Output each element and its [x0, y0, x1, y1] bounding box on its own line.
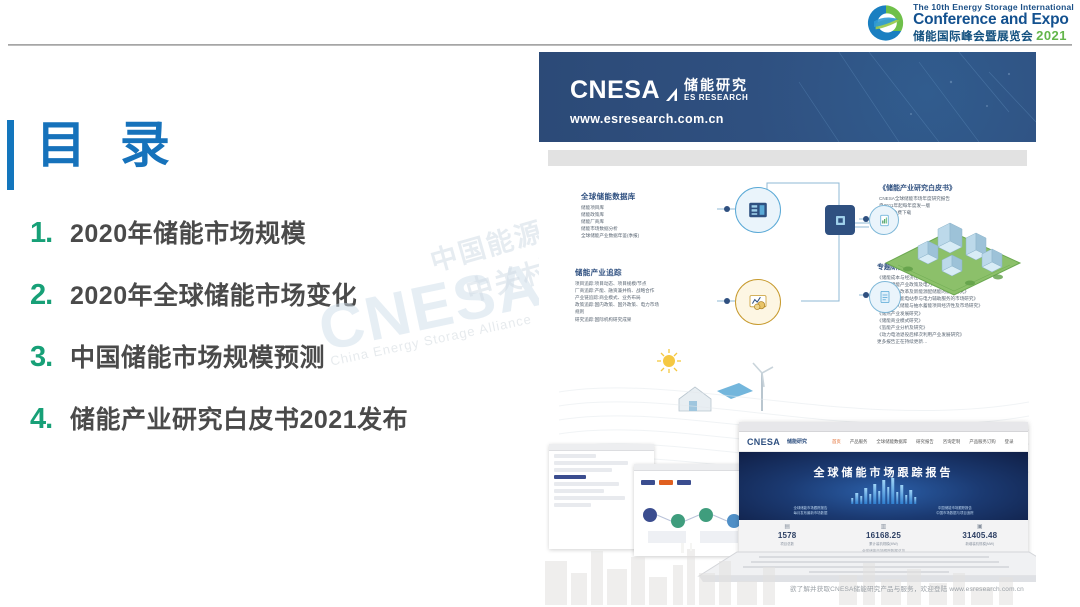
- clipboard-icon: ▤: [739, 524, 835, 530]
- chip-node-icon: [825, 205, 855, 235]
- toc-item-number: 1.: [30, 217, 70, 250]
- diagram-list-item: 全球储能产业数据年鉴(季报): [581, 232, 701, 239]
- hero-caption-line: 中国储能市场跟踪报告: [938, 506, 972, 510]
- diagram-heading: 《储能产业研究白皮书》: [879, 183, 1034, 193]
- conference-line-2: Conference and Expo: [913, 12, 1074, 28]
- diagram-block-industry-tracking: 储能产业追踪 项目追踪:项目动态、项目规模/节点 厂商追踪:产能、融资兼并购、战…: [575, 267, 705, 323]
- hero-caption-line: 中国市场数据与项目追踪: [936, 511, 973, 515]
- hero-caption-line: 每月发布最新市场数据: [793, 511, 827, 515]
- toc-item-number: 2.: [30, 279, 70, 312]
- conference-swoosh-icon: [865, 3, 907, 43]
- battery-icon: ▣: [932, 524, 1028, 530]
- browser-chrome: [739, 422, 1028, 432]
- diagram-list-item: 储能市场数据分析: [581, 225, 701, 232]
- diagram-list-item: 《压缩空气储能与抽水蓄能项目经济性及市场研究》: [877, 302, 1035, 309]
- toc-item[interactable]: 2. 2020年全球储能市场变化: [30, 276, 530, 312]
- product-diagram: 全球储能数据库 储能项目库 储能政策库 储能厂商库 储能市场数据分析 全球储能产…: [539, 177, 1036, 422]
- diagram-list-item: 项目追踪:项目动态、项目规模/节点: [575, 280, 705, 287]
- stat-value: 16168.25: [835, 531, 931, 540]
- toc-item-label: 储能产业研究白皮书2021发布: [70, 400, 408, 436]
- table-of-contents: 1. 2020年储能市场规模 2. 2020年全球储能市场变化 3. 中国储能市…: [30, 214, 530, 462]
- conference-line-cn: 储能国际峰会暨展览会: [913, 32, 1033, 44]
- hero-captions: 全球储能市场跟踪报告 每月发布最新市场数据 中国储能市场跟踪报告 中国市场数据与…: [739, 506, 1028, 516]
- microchip-icon: [833, 213, 848, 228]
- site-logo-cn: 储能研究: [787, 438, 807, 445]
- nav-item[interactable]: 首页: [832, 439, 841, 445]
- toc-item-label: 2020年全球储能市场变化: [70, 276, 357, 312]
- site-navbar: CNESA 储能研究 首页 产品服务 全球储能数据库 研究报告 咨询定制 产品服…: [739, 432, 1028, 452]
- hero-caption-line: 全球储能市场跟踪报告: [793, 506, 827, 510]
- stat-value: 1578: [739, 531, 835, 540]
- cnesa-en-name: ES RESEARCH: [684, 94, 748, 102]
- conference-year: 2021: [1036, 29, 1067, 42]
- nav-item[interactable]: 全球储能数据库: [876, 439, 907, 445]
- diagram-list-item: 政策追踪:国内政策、国外政策、电力市场: [575, 301, 705, 308]
- panel-grey-separator: [548, 150, 1027, 166]
- slide-root: The 10th Energy Storage International Co…: [0, 0, 1080, 607]
- page-title: 目 录: [36, 118, 180, 173]
- server-rack-icon: [746, 198, 770, 222]
- diagram-heading: 全球储能数据库: [581, 191, 701, 202]
- cnesa-cn-name: 储能研究: [684, 78, 748, 92]
- nav-item[interactable]: 产品服务: [850, 439, 868, 445]
- toc-item[interactable]: 1. 2020年储能市场规模: [30, 214, 530, 250]
- cnesa-banner: CNESA 储能研究 ES RESEARCH www.esresearch.co…: [539, 52, 1036, 142]
- nav-item[interactable]: 产品服务订购: [969, 439, 995, 445]
- diagram-list-item: CNESA全球储能市场年度研究报告: [879, 195, 1034, 202]
- browser-titlebar: [634, 464, 754, 471]
- diagram-list-item: 《动力电池退役后梯次利用产业发展研究》: [877, 331, 1035, 338]
- cnesa-triangle-icon: [666, 88, 677, 101]
- diagram-list-item: 《储热产业发展研究》: [877, 310, 1035, 317]
- site-hero: 全球储能市场跟踪报告 全球储能市场跟踪报告 每月发布最新市场数据 中国储能市场跟…: [739, 452, 1028, 520]
- title-accent-bar: [7, 120, 14, 190]
- toc-item-label: 2020年储能市场规模: [70, 214, 306, 250]
- toc-item-number: 4.: [30, 403, 70, 436]
- conference-line-1: The 10th Energy Storage International: [913, 3, 1074, 12]
- site-logo: CNESA: [747, 437, 780, 447]
- toc-item[interactable]: 4. 储能产业研究白皮书2021发布: [30, 400, 530, 436]
- panel-caption: 欲了解并获取CNESA储能研究产品与服务，欢迎登陆 www.esresearch…: [790, 583, 1024, 593]
- toc-item-number: 3.: [30, 341, 70, 374]
- diagram-list-item: 研究追踪:国际机构研究成果: [575, 316, 705, 323]
- nav-item[interactable]: 登录: [1005, 439, 1014, 445]
- database-node-icon: [735, 187, 781, 233]
- diagram-list: 储能项目库 储能政策库 储能厂商库 储能市场数据分析 全球储能产业数据年鉴(季报…: [581, 204, 701, 240]
- browser-titlebar: [549, 444, 654, 451]
- conference-logo: The 10th Energy Storage International Co…: [865, 2, 1074, 44]
- product-overview-panel: CNESA 储能研究 ES RESEARCH www.esresearch.co…: [539, 52, 1036, 605]
- diagram-list-item: 厂商追踪:产能、融资兼并购、战略合作: [575, 287, 705, 294]
- flow-nodes-graphic: [634, 495, 754, 545]
- stat-value: 31405.48: [932, 531, 1028, 540]
- toc-item[interactable]: 3. 中国储能市场规模预测: [30, 338, 530, 374]
- diagram-list-item: 规则: [575, 308, 705, 315]
- chart-icon: ▥: [835, 524, 931, 530]
- hero-bar-chart-decor: [851, 478, 917, 504]
- diagram-heading: 储能产业追踪: [575, 267, 705, 278]
- diagram-list-item: 产业链追踪:商业模式、业务布局: [575, 294, 705, 301]
- diagram-list-item: 储能项目库: [581, 204, 701, 211]
- diagram-list-item: 《氢能产业分析及研究》: [877, 324, 1035, 331]
- cnesa-logo: CNESA 储能研究 ES RESEARCH: [570, 78, 748, 103]
- diagram-list: 项目追踪:项目动态、项目规模/节点 厂商追踪:产能、融资兼并购、战略合作 产业链…: [575, 280, 705, 323]
- coins-chart-icon: [746, 290, 770, 314]
- diagram-list-item: 储能政策库: [581, 211, 701, 218]
- diagram-list-item: 更多报告正在持续更新…: [877, 338, 1035, 345]
- tracking-node-icon: [735, 279, 781, 325]
- diagram-list-item: 《储能商业模式研究》: [877, 317, 1035, 324]
- nav-item[interactable]: 咨询定制: [943, 439, 961, 445]
- diagram-block-global-database: 全球储能数据库 储能项目库 储能政策库 储能厂商库 储能市场数据分析 全球储能产…: [581, 191, 701, 240]
- cnesa-website-screenshot: CNESA 储能研究 首页 产品服务 全球储能数据库 研究报告 咨询定制 产品服…: [739, 422, 1028, 554]
- site-nav-menu: 首页 产品服务 全球储能数据库 研究报告 咨询定制 产品服务订购 登录: [832, 439, 1013, 445]
- header-divider: [8, 44, 1072, 46]
- cnesa-wordmark: CNESA: [570, 78, 660, 103]
- toc-item-label: 中国储能市场规模预测: [70, 338, 325, 374]
- cnesa-url: www.esresearch.com.cn: [570, 112, 724, 126]
- diagram-list-item: 储能厂商库: [581, 218, 701, 225]
- isometric-city-illustration: [878, 205, 1028, 297]
- nav-item[interactable]: 研究报告: [916, 439, 934, 445]
- city-skyline-silhouette: [539, 543, 1036, 605]
